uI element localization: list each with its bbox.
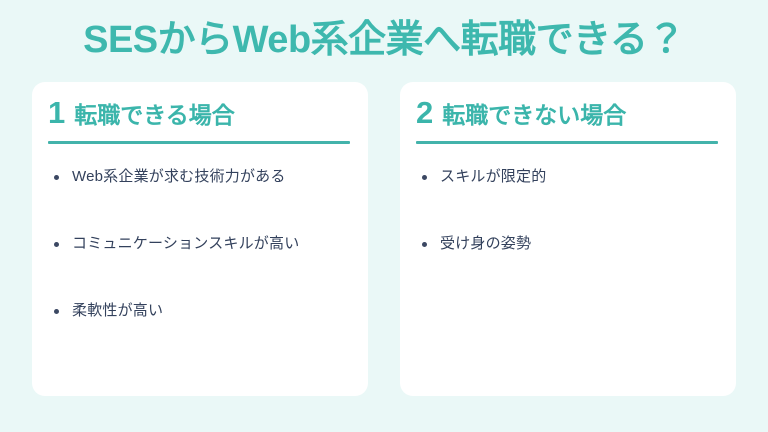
card-number-badge: 1 (48, 96, 65, 130)
card-header: 2 転職できない場合 (410, 96, 726, 138)
card-header: 1 転職できる場合 (42, 96, 358, 138)
list-item-label: スキルが限定的 (440, 166, 546, 188)
list-item-label: 柔軟性が高い (72, 300, 163, 322)
list-item: 受け身の姿勢 (410, 233, 726, 255)
list-item-label: Web系企業が求む技術力がある (72, 166, 286, 188)
bullet-list: スキルが限定的 受け身の姿勢 (410, 144, 726, 386)
list-item: スキルが限定的 (410, 166, 726, 188)
card-transferable: 1 転職できる場合 Web系企業が求む技術力がある コミュニケーションスキルが高… (32, 82, 368, 396)
list-item-label: コミュニケーションスキルが高い (72, 233, 299, 255)
bullet-dot-icon (54, 175, 59, 180)
slide-root: SESからWeb系企業へ転職できる？ 1 転職できる場合 Web系企業が求む技術… (0, 0, 768, 432)
list-item: 柔軟性が高い (42, 300, 358, 322)
bullet-dot-icon (54, 242, 59, 247)
list-item: Web系企業が求む技術力がある (42, 166, 358, 188)
list-item-label: 受け身の姿勢 (440, 233, 531, 255)
card-container: 1 転職できる場合 Web系企業が求む技術力がある コミュニケーションスキルが高… (32, 82, 736, 396)
bullet-dot-icon (54, 309, 59, 314)
bullet-dot-icon (422, 242, 427, 247)
card-heading: 転職できない場合 (442, 98, 626, 132)
card-number-badge: 2 (416, 96, 433, 130)
list-item: コミュニケーションスキルが高い (42, 233, 358, 255)
card-not-transferable: 2 転職できない場合 スキルが限定的 受け身の姿勢 (400, 82, 736, 396)
bullet-list: Web系企業が求む技術力がある コミュニケーションスキルが高い 柔軟性が高い (42, 144, 358, 386)
bullet-dot-icon (422, 175, 427, 180)
page-title: SESからWeb系企業へ転職できる？ (0, 14, 768, 66)
card-heading: 転職できる場合 (74, 98, 235, 132)
